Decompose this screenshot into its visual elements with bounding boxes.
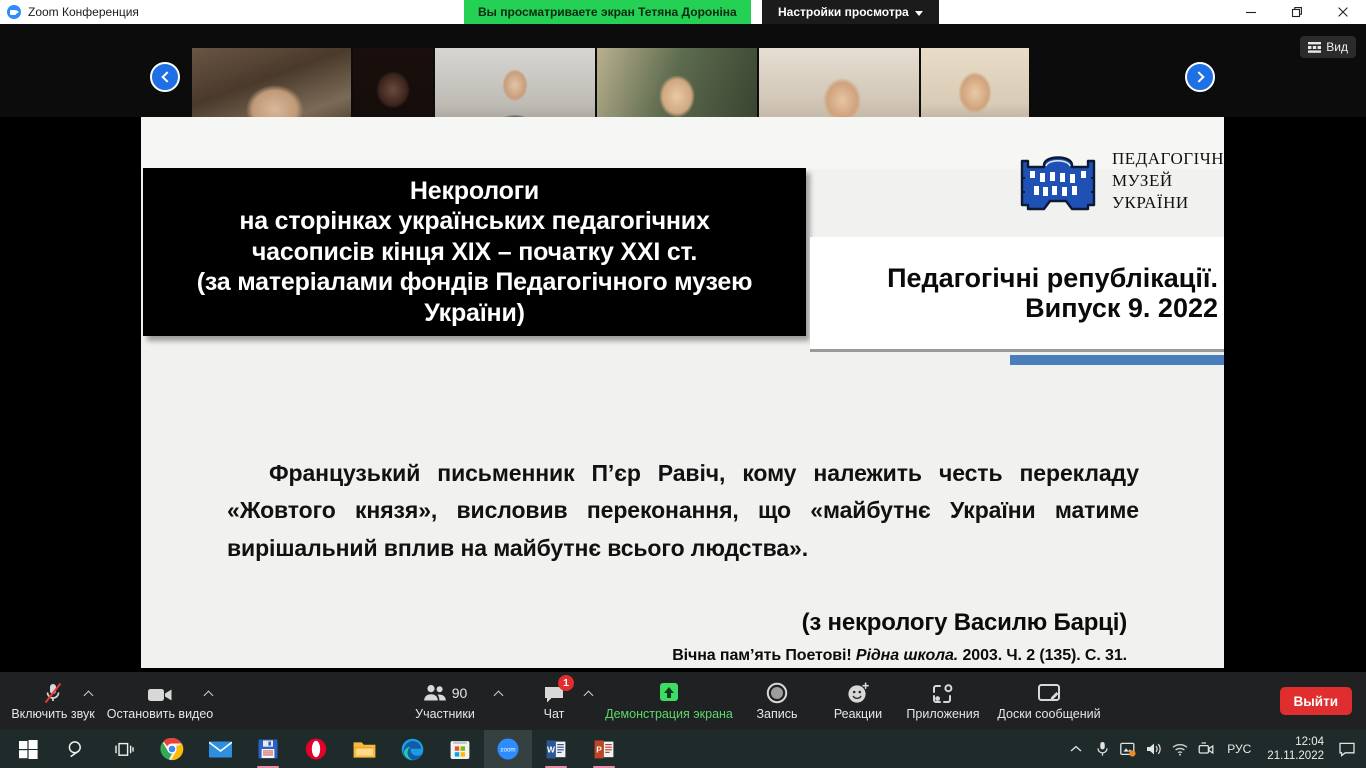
apps-button[interactable]: Приложения: [898, 672, 988, 730]
people-icon: [423, 684, 447, 701]
chevron-left-icon: [161, 71, 172, 82]
google-chrome-icon: [160, 737, 184, 761]
notification-center-icon: [1339, 742, 1356, 757]
window-controls: [1228, 0, 1366, 24]
slide-publication-box: Педагогічні републікації.Випуск 9. 2022: [810, 237, 1224, 352]
participants-icon-group: 90: [423, 682, 468, 704]
slide-source-prefix: Вічна пам’ять Поетові!: [672, 647, 856, 664]
participants-filmstrip: Dmytro Larin Vladyslava Horobei м...: [0, 24, 1366, 117]
view-layout-button[interactable]: Вид: [1300, 36, 1356, 58]
search-button[interactable]: [52, 730, 100, 768]
microsoft-powerpoint-icon: P: [594, 739, 614, 760]
chat-unread-badge: 1: [558, 675, 574, 691]
svg-text:zoom: zoom: [500, 746, 515, 753]
microsoft-edge-button[interactable]: [388, 730, 436, 768]
zoom-logo-icon: [7, 5, 21, 19]
grid-view-icon: [1308, 42, 1321, 53]
search-icon: [67, 740, 86, 759]
presentation-slide: Некрологина сторінках українських педаго…: [141, 117, 1224, 668]
camera-icon: [1198, 742, 1214, 756]
microsoft-edge-icon: [401, 738, 424, 761]
slide-accent-bar: [1010, 355, 1224, 365]
microphone-muted-icon: [43, 682, 63, 704]
close-button[interactable]: [1320, 0, 1366, 24]
chat-icon-group: 1: [543, 682, 565, 704]
window-title-bar: Zoom Конференция Вы просматриваете экран…: [0, 0, 1366, 24]
participants-options-caret[interactable]: [490, 686, 506, 702]
task-view-button[interactable]: [100, 730, 148, 768]
save-app-icon: [258, 739, 278, 759]
start-button-icon: [19, 740, 38, 759]
svg-text:P: P: [596, 744, 602, 754]
clock[interactable]: 12:04 21.11.2022: [1259, 735, 1332, 763]
restore-button[interactable]: [1274, 0, 1320, 24]
system-tray: РУС 12:04 21.11.2022: [1063, 730, 1366, 768]
taskbar-apps: zoom W P: [4, 730, 628, 768]
screen-sharing-banner: Вы просматриваете экран Тетяна Дороніна: [464, 0, 751, 24]
file-explorer-button[interactable]: [340, 730, 388, 768]
slide-title: Некрологина сторінках українських педаго…: [187, 176, 762, 329]
view-layout-label: Вид: [1326, 40, 1348, 54]
video-options-caret[interactable]: [200, 686, 216, 702]
leave-label: Выйти: [1294, 694, 1339, 709]
start-button[interactable]: [4, 730, 52, 768]
window-title: Zoom Конференция: [28, 5, 139, 19]
slide-source-suffix: 2003. Ч. 2 (135). С. 31.: [958, 647, 1127, 664]
filmstrip-prev-button[interactable]: [150, 62, 180, 92]
participants-count: 90: [452, 685, 468, 701]
slide-body-text: Французький письменник П’єр Равіч, кому …: [227, 455, 1139, 567]
view-options-label: Настройки просмотра: [778, 5, 909, 19]
minimize-button[interactable]: [1228, 0, 1274, 24]
microsoft-store-icon: [450, 739, 470, 760]
whiteboards-button[interactable]: Доски сообщений: [992, 672, 1106, 730]
filmstrip-next-button[interactable]: [1185, 62, 1215, 92]
google-chrome-button[interactable]: [148, 730, 196, 768]
file-explorer-icon: [353, 740, 376, 759]
wifi-icon: [1172, 743, 1188, 756]
mail-button[interactable]: [196, 730, 244, 768]
clock-time: 12:04: [1295, 735, 1324, 749]
whiteboard-icon: [1037, 682, 1061, 704]
shared-screen-stage: Некрологина сторінках українських педаго…: [0, 117, 1366, 672]
onedrive-sync-icon: [1120, 742, 1136, 757]
microsoft-powerpoint-button[interactable]: P: [580, 730, 628, 768]
clock-date: 21.11.2022: [1267, 749, 1324, 763]
chevron-up-icon: [583, 691, 593, 701]
slide-publication-text: Педагогічні републікації.Випуск 9. 2022: [887, 263, 1224, 323]
sharing-banner-label: Вы просматриваете экран Тетяна Дороніна: [478, 5, 737, 19]
share-screen-label: Демонстрация экрана: [605, 707, 733, 721]
zoom-meeting-toolbar: Включить звук Остановить видео: [0, 672, 1366, 730]
volume-button[interactable]: [1141, 730, 1167, 768]
reactions-button[interactable]: Реакции: [822, 672, 894, 730]
microsoft-store-button[interactable]: [436, 730, 484, 768]
slide-source: Вічна пам’ять Поетові! Рідна школа. 2003…: [227, 647, 1127, 665]
chevron-up-icon: [1070, 745, 1082, 753]
museum-building-icon: [1014, 147, 1102, 215]
chevron-up-icon: [83, 691, 93, 701]
network-button[interactable]: [1167, 730, 1193, 768]
opera-button[interactable]: [292, 730, 340, 768]
share-screen-button[interactable]: Демонстрация экрана: [606, 672, 732, 730]
unmute-label: Включить звук: [11, 707, 94, 721]
windows-taskbar: zoom W P: [0, 730, 1366, 768]
video-camera-icon: [147, 682, 173, 704]
slide-source-journal: Рідна школа.: [856, 647, 958, 664]
chevron-down-icon: [915, 11, 923, 16]
onedrive-sync-button[interactable]: [1115, 730, 1141, 768]
participants-button[interactable]: 90 Участники: [405, 672, 485, 730]
chat-options-caret[interactable]: [580, 686, 596, 702]
task-view-icon: [115, 741, 134, 758]
view-options-button[interactable]: Настройки просмотра: [762, 0, 939, 24]
record-label: Запись: [756, 707, 797, 721]
chevron-right-icon: [1193, 71, 1204, 82]
museum-logo: ПедагогічнийМузейУкраїни: [1014, 147, 1224, 215]
smiley-reactions-icon: [847, 682, 870, 704]
chevron-up-icon: [203, 691, 213, 701]
whiteboards-label: Доски сообщений: [997, 707, 1100, 721]
zoom-taskbar-button[interactable]: zoom: [484, 730, 532, 768]
stop-video-label: Остановить видео: [107, 707, 214, 721]
microsoft-word-button[interactable]: W: [532, 730, 580, 768]
microsoft-word-icon: W: [546, 739, 566, 760]
slide-title-box: Некрологина сторінках українських педаго…: [143, 168, 806, 336]
museum-logo-text: ПедагогічнийМузейУкраїни: [1112, 148, 1224, 213]
chevron-up-icon: [493, 691, 503, 701]
apps-label: Приложения: [906, 707, 979, 721]
opera-icon: [305, 738, 327, 760]
slide-attribution: (з некрологу Василю Барці): [227, 609, 1127, 637]
audio-options-caret[interactable]: [80, 686, 96, 702]
zoom-icon: zoom: [495, 738, 521, 760]
speaker-icon: [1146, 742, 1162, 756]
record-circle-icon: [766, 682, 788, 704]
chat-label: Чат: [544, 707, 565, 721]
record-button[interactable]: Запись: [742, 672, 812, 730]
apps-icon: [932, 682, 954, 704]
share-screen-up-arrow-icon: [657, 682, 681, 704]
notification-center-button[interactable]: [1332, 730, 1362, 768]
mail-icon: [209, 741, 232, 758]
leave-meeting-button[interactable]: Выйти: [1280, 687, 1353, 715]
participants-label: Участники: [415, 707, 475, 721]
tray-overflow-button[interactable]: [1063, 730, 1089, 768]
save-app-button[interactable]: [244, 730, 292, 768]
svg-text:W: W: [547, 744, 555, 754]
camera-tray-button[interactable]: [1193, 730, 1219, 768]
reactions-label: Реакции: [834, 707, 882, 721]
microphone-icon: [1096, 741, 1109, 757]
chat-button[interactable]: 1 Чат: [528, 672, 580, 730]
language-indicator[interactable]: РУС: [1219, 742, 1259, 756]
microphone-tray-button[interactable]: [1089, 730, 1115, 768]
